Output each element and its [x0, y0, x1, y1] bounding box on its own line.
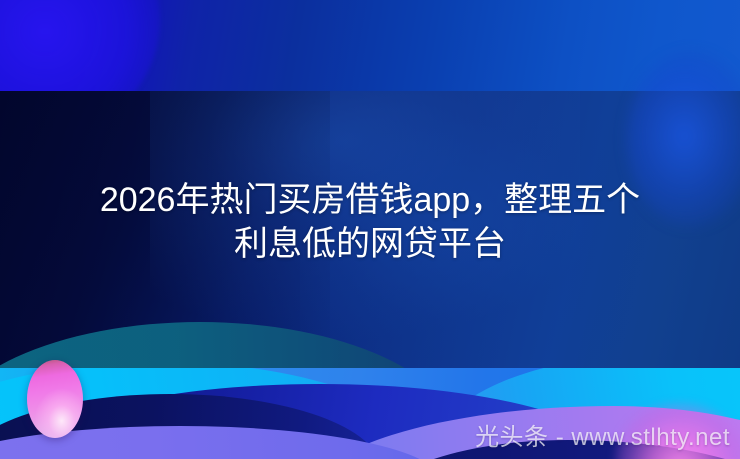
page-title-line-2: 利息低的网贷平台 — [0, 222, 740, 266]
pink-sphere-shape — [27, 360, 83, 438]
page-title: 2026年热门买房借钱app，整理五个 利息低的网贷平台 — [0, 178, 740, 266]
watermark-text: 光头条 - www.stlhty.net — [475, 423, 730, 453]
banner-canvas: 2026年热门买房借钱app，整理五个 利息低的网贷平台 光头条 - www.s… — [0, 0, 740, 459]
page-title-line-1: 2026年热门买房借钱app，整理五个 — [0, 178, 740, 222]
